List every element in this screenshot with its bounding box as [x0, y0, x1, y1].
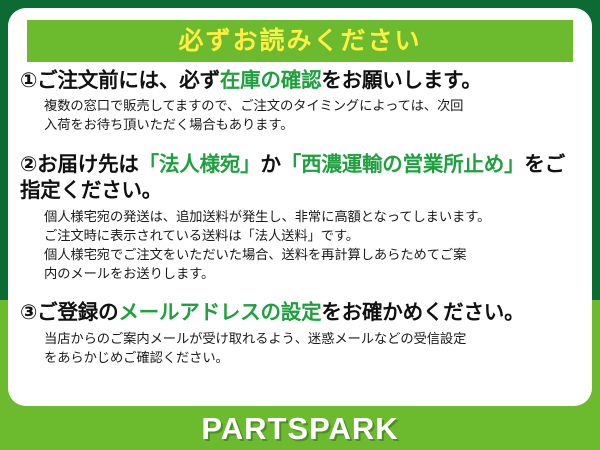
section-1-body-line-1: 複数の窓口で販売してますので、ご注文のタイミングによっては、次回 [44, 97, 582, 116]
section-2-marker: ② [20, 153, 37, 176]
section-2-body-line-4: 内のメールをお送りします。 [44, 265, 582, 284]
section-3-marker: ③ [20, 301, 37, 324]
section-1-body-line-2: 入荷をお待ち頂いただく場合もあります。 [44, 116, 582, 135]
brand-footer: PARTSPARK [0, 406, 600, 450]
section-3-body: 当店からのご案内メールが受け取れるよう、迷惑メールなどの受信設定 をあらかじめご… [20, 330, 582, 368]
section-2-heading: ②お届け先は「法人様宛」か「西濃運輸の営業所止め」をご指定ください。 [20, 152, 582, 204]
section-1-heading-highlight: 在庫の確認 [220, 69, 322, 92]
section-3-body-line-1: 当店からのご案内メールが受け取れるよう、迷惑メールなどの受信設定 [44, 330, 582, 349]
section-1-heading-part-3: をお願いします。 [321, 69, 481, 92]
section-1-marker: ① [20, 69, 37, 92]
brand-name: PARTSPARK [201, 413, 398, 444]
notice-section-3: ③ご登録のメールアドレスの設定をお確かめください。 当店からのご案内メールが受け… [8, 300, 592, 368]
section-3-heading-highlight: メールアドレスの設定 [118, 301, 321, 324]
page-title: 必ずお読みください [178, 29, 421, 54]
section-2-heading-highlight-2: 「西濃運輸の営業所止め」 [281, 153, 525, 176]
notice-content: ①ご注文前には、必ず在庫の確認をお願いします。 複数の窓口で販売してますので、ご… [8, 68, 592, 368]
section-1-heading-part-1: ご注文前には、必ず [37, 69, 220, 92]
notice-section-2: ②お届け先は「法人様宛」か「西濃運輸の営業所止め」をご指定ください。 個人様宅宛… [8, 152, 592, 284]
section-3-heading-part-3: をお確かめください。 [321, 301, 524, 324]
notice-card: 必ずお読みください ①ご注文前には、必ず在庫の確認をお願いします。 複数の窓口で… [8, 8, 592, 406]
section-2-heading-part-3: か [260, 153, 280, 176]
section-3-body-line-2: をあらかじめご確認ください。 [44, 349, 582, 368]
section-2-body-line-3: 個人様宅宛でご注文をいただいた場合、送料を再計算しあらためてご案 [44, 246, 582, 265]
section-3-heading-part-1: ご登録の [37, 301, 118, 324]
notice-banner: 必ずお読みください ①ご注文前には、必ず在庫の確認をお願いします。 複数の窓口で… [0, 0, 600, 450]
section-2-body-line-1: 個人様宅宛の発送は、追加送料が発生し、非常に高額となってしまいます。 [44, 208, 582, 227]
notice-section-1: ①ご注文前には、必ず在庫の確認をお願いします。 複数の窓口で販売してますので、ご… [8, 68, 592, 135]
section-2-heading-highlight-1: 「法人様宛」 [139, 153, 261, 176]
section-2-body-line-2: ご注文時に表示されている送料は「法人送料」です。 [44, 227, 582, 246]
header-bar: 必ずお読みください [27, 20, 573, 62]
section-1-heading: ①ご注文前には、必ず在庫の確認をお願いします。 [20, 68, 582, 94]
section-3-heading: ③ご登録のメールアドレスの設定をお確かめください。 [20, 300, 582, 326]
section-2-body: 個人様宅宛の発送は、追加送料が発生し、非常に高額となってしまいます。 ご注文時に… [20, 208, 582, 284]
section-1-body: 複数の窓口で販売してますので、ご注文のタイミングによっては、次回 入荷をお待ち頂… [20, 97, 582, 135]
section-2-heading-part-1: お届け先は [37, 153, 139, 176]
